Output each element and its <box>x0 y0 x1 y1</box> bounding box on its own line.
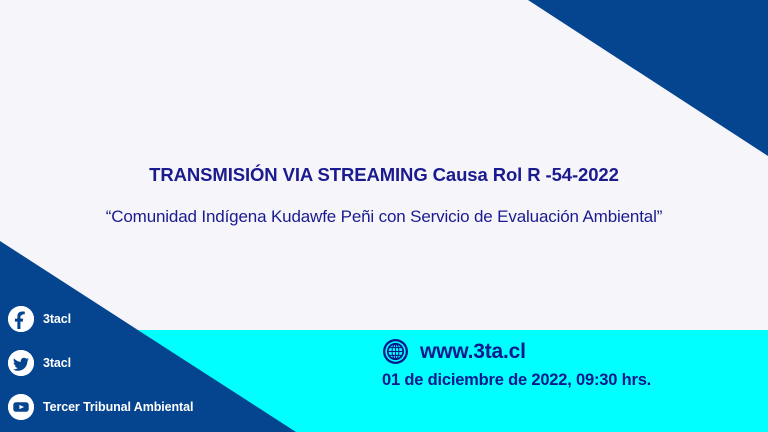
facebook-icon <box>8 306 34 332</box>
social-handle-facebook: 3tacl <box>43 312 71 326</box>
streaming-announcement-banner: TRANSMISIÓN VIA STREAMING Causa Rol R -5… <box>0 0 768 432</box>
twitter-icon <box>8 350 34 376</box>
social-link-twitter[interactable]: 3tacl <box>8 350 193 376</box>
youtube-icon <box>8 394 34 420</box>
website-url: www.3ta.cl <box>420 340 526 364</box>
page-subtitle: “Comunidad Indígena Kudawfe Peñi con Ser… <box>0 205 768 229</box>
event-datetime: 01 de diciembre de 2022, 09:30 hrs. <box>382 371 651 390</box>
social-link-facebook[interactable]: 3tacl <box>8 306 193 332</box>
globe-icon <box>382 338 409 365</box>
headline-block: TRANSMISIÓN VIA STREAMING Causa Rol R -5… <box>0 162 768 229</box>
social-handle-youtube: Tercer Tribunal Ambiental <box>43 400 193 414</box>
website-and-date-block: www.3ta.cl 01 de diciembre de 2022, 09:3… <box>382 338 651 390</box>
social-handle-twitter: 3tacl <box>43 356 71 370</box>
social-links-list: 3tacl 3tacl Tercer Tribunal Ambiental <box>8 306 193 420</box>
website-row[interactable]: www.3ta.cl <box>382 338 651 365</box>
page-title: TRANSMISIÓN VIA STREAMING Causa Rol R -5… <box>0 162 768 188</box>
social-link-youtube[interactable]: Tercer Tribunal Ambiental <box>8 394 193 420</box>
